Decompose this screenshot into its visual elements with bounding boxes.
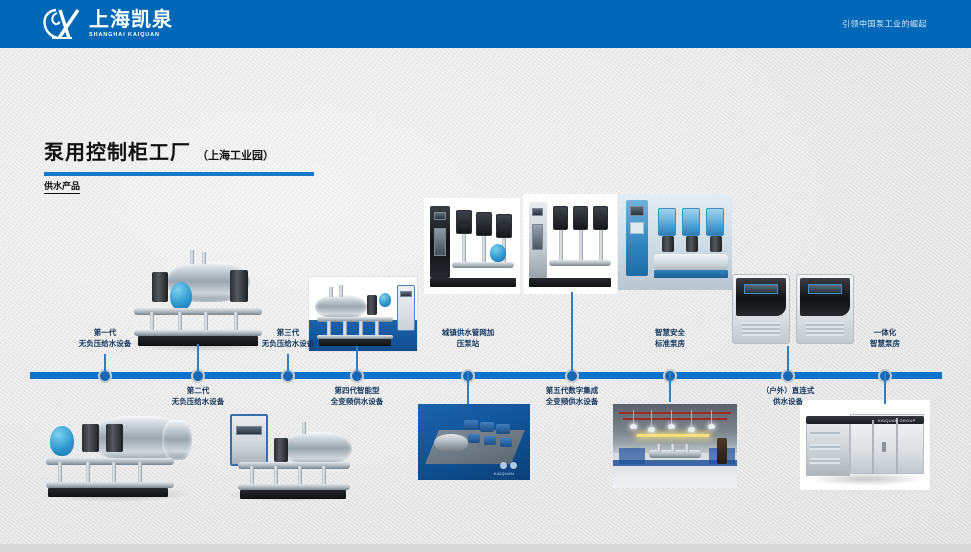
- page-title-main: 泵用控制柜工厂: [44, 136, 191, 165]
- brand-logo[interactable]: 上海凯泉 SHANGHAI KAIQUAN: [42, 7, 173, 41]
- label-line: 城镇供水管网加: [442, 328, 495, 339]
- timeline-stem-gen4: [356, 346, 358, 372]
- brand-text: 上海凯泉 SHANGHAI KAIQUAN: [89, 10, 173, 39]
- label-line: 标准泵房: [655, 339, 685, 350]
- label-line: 第四代智能型: [331, 386, 384, 397]
- timeline-label-gen1: 第一代 无负压给水设备: [79, 328, 132, 350]
- label-line: 全变频供水设备: [546, 397, 599, 408]
- photo-second-generation-non-negative-pressure-unit: [218, 404, 358, 508]
- label-line: 智慧泵房: [870, 339, 900, 350]
- label-line: （户外）直连式: [762, 386, 815, 397]
- bottom-strip: [0, 544, 971, 552]
- brand-name-en: SHANGHAI KAIQUAN: [89, 33, 173, 39]
- label-line: 第五代数字集成: [546, 386, 599, 397]
- photo-first-generation-non-negative-pressure-unit: [34, 400, 196, 508]
- label-line: 第三代: [262, 328, 315, 339]
- label-line: 无负压给水设备: [172, 397, 225, 408]
- photo-integrated-smart-pump-house-container: KAIQUAN GROUP: [800, 400, 930, 490]
- section-label: 供水产品: [44, 179, 80, 194]
- slide-root: 上海凯泉 SHANGHAI KAIQUAN 引领中国泵工业的崛起 泵用控制柜工厂…: [0, 0, 971, 552]
- timeline-label-gen4: 第四代智能型 全变频供水设备: [331, 386, 384, 408]
- photo-fourth-generation-intelligent-vfd-unit: [308, 276, 418, 352]
- timeline-label-outdoor: （户外）直连式 供水设备: [762, 386, 815, 408]
- timeline-stem-integrated: [884, 372, 886, 404]
- timeline-stem-smart-safe: [669, 372, 671, 402]
- title-underline: [44, 172, 314, 176]
- label-line: 智慧安全: [655, 328, 685, 339]
- page-title: 泵用控制柜工厂 （上海工业园）: [44, 136, 314, 176]
- timeline-label-integrated: 一体化 智慧泵房: [870, 328, 900, 350]
- timeline-stem-gen3: [287, 354, 289, 372]
- timeline-stem-outdoor: [787, 346, 789, 372]
- slide-canvas: 泵用控制柜工厂 （上海工业园） 供水产品: [0, 48, 971, 544]
- timeline-stem-municipal: [467, 372, 469, 404]
- label-line: 一体化: [870, 328, 900, 339]
- label-line: 供水设备: [762, 397, 815, 408]
- label-line: 第二代: [172, 386, 225, 397]
- header-tagline: 引领中国泵工业的崛起: [842, 19, 927, 30]
- timeline-stem-gen5: [571, 292, 573, 372]
- timeline-label-municipal: 城镇供水管网加 压泵站: [442, 328, 495, 350]
- timeline-stem-gen2: [197, 344, 199, 372]
- photo-outdoor-direct-connect-supply-cabinets: [728, 264, 860, 352]
- timeline-label-gen5: 第五代数字集成 全变频供水设备: [546, 386, 599, 408]
- label-line: 无负压给水设备: [262, 339, 315, 350]
- label-line: 无负压给水设备: [79, 339, 132, 350]
- timeline-axis: 第一代 无负压给水设备 第二代 无负压给水设备 第三代 无负压给水设: [30, 372, 942, 379]
- photo-municipal-water-network-booster-station: KAIQUAN: [418, 404, 530, 480]
- kaiquan-logo-icon: [42, 7, 82, 41]
- photo-fifth-generation-digital-vfd-unit-b: [523, 194, 617, 294]
- timeline-label-gen3: 第三代 无负压给水设备: [262, 328, 315, 350]
- label-line: 第一代: [79, 328, 132, 339]
- header-bar: 上海凯泉 SHANGHAI KAIQUAN 引领中国泵工业的崛起: [0, 0, 971, 48]
- timeline-stem-gen1: [104, 354, 106, 372]
- page-title-sub: （上海工业园）: [197, 147, 274, 163]
- label-line: 全变频供水设备: [331, 397, 384, 408]
- photo-smart-safe-standard-pump-room: [613, 404, 737, 488]
- timeline-label-gen2: 第二代 无负压给水设备: [172, 386, 225, 408]
- label-line: 压泵站: [442, 339, 495, 350]
- brand-name-cn: 上海凯泉: [89, 10, 173, 30]
- photo-fifth-generation-digital-vfd-unit-a: [424, 198, 520, 294]
- photo-fifth-generation-digital-vfd-unit-c: [618, 194, 732, 290]
- timeline-label-smart-safe: 智慧安全 标准泵房: [655, 328, 685, 350]
